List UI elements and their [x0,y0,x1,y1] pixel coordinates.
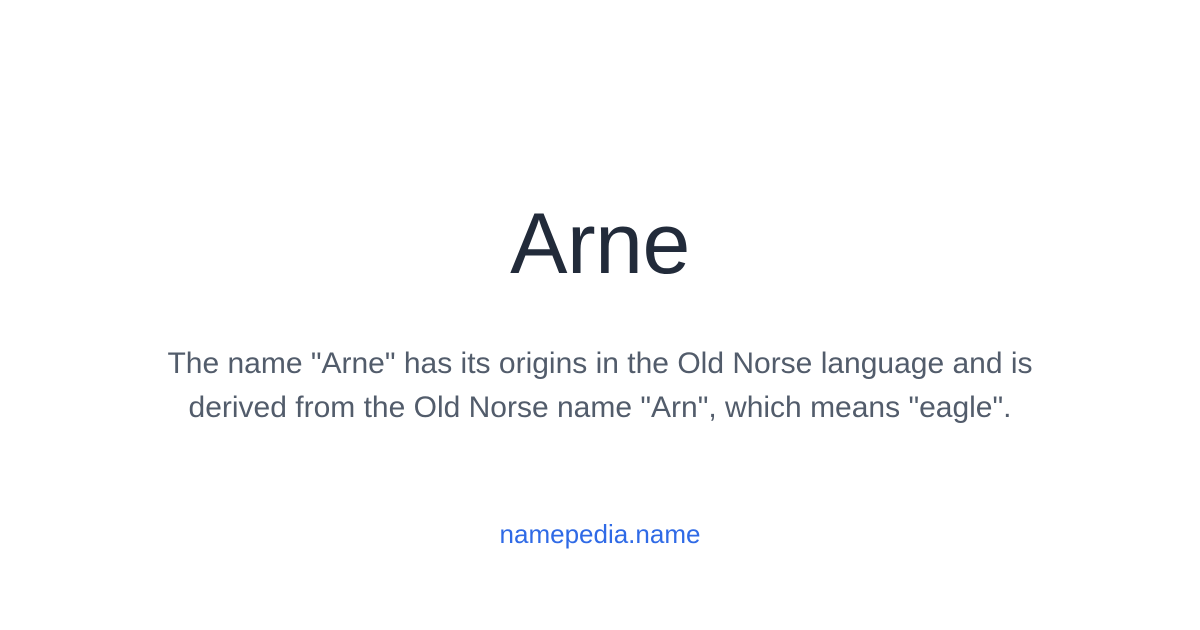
name-meaning-card: Arne The name "Arne" has its origins in … [0,0,1200,630]
site-link[interactable]: namepedia.name [0,518,1200,550]
page-title: Arne [0,196,1200,292]
name-origin-description: The name "Arne" has its origins in the O… [150,342,1050,430]
